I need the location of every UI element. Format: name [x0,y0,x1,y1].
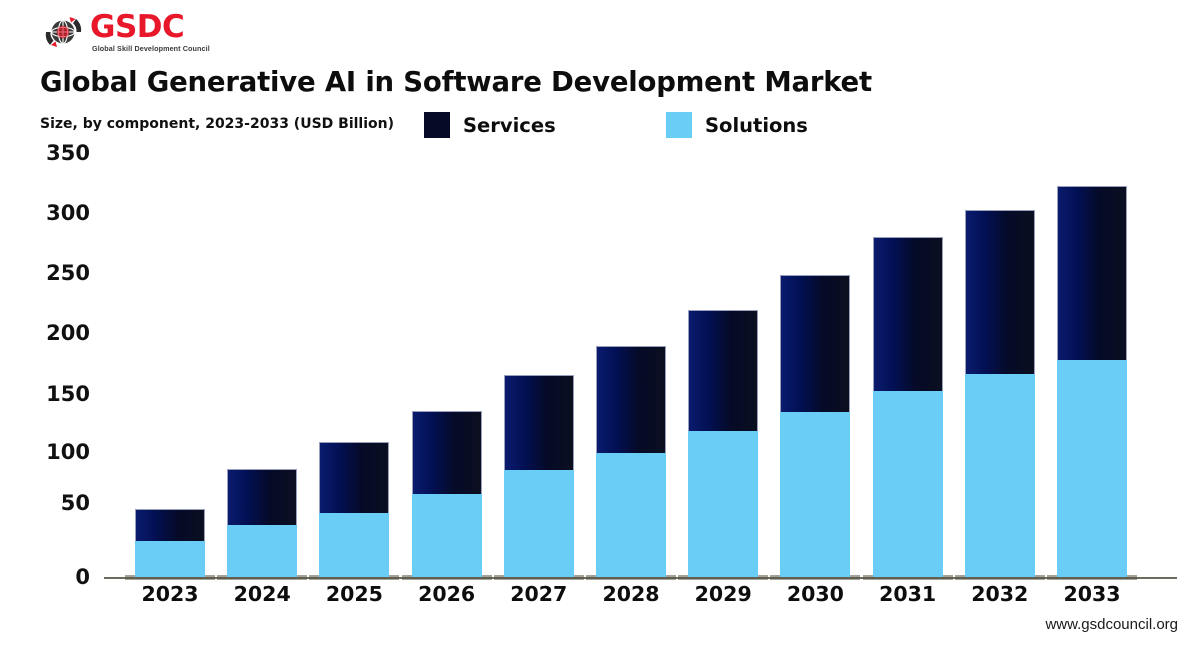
bar-segment-services-2027[interactable] [504,375,574,470]
y-axis-tick-300: 300 [28,201,90,225]
bar-segment-solutions-2031[interactable] [873,391,943,577]
y-axis-tick-0: 0 [28,565,90,589]
footer-website: www.gsdcouncil.org [1045,616,1178,633]
bar-segment-solutions-2033[interactable] [1057,360,1127,577]
x-axis-tick-2029: 2029 [676,582,770,606]
bar-column-2026[interactable] [412,411,482,577]
bar-segment-solutions-2023[interactable] [135,541,205,577]
x-axis-tick-2023: 2023 [123,582,217,606]
bar-segment-services-2025[interactable] [319,442,389,512]
bar-column-2032[interactable] [965,210,1035,577]
bar-segment-solutions-2025[interactable] [319,513,389,577]
x-axis-tick-2032: 2032 [953,582,1047,606]
y-axis-tick-50: 50 [28,491,90,515]
bar-segment-services-2030[interactable] [780,275,850,412]
bar-segment-solutions-2024[interactable] [227,525,297,577]
bar-column-2027[interactable] [504,375,574,577]
bar-segment-services-2024[interactable] [227,469,297,525]
bar-segment-solutions-2032[interactable] [965,374,1035,577]
bar-segment-services-2028[interactable] [596,346,666,453]
y-axis-tick-250: 250 [28,261,90,285]
bar-segment-services-2026[interactable] [412,411,482,495]
bar-segment-services-2023[interactable] [135,509,205,541]
bar-segment-services-2029[interactable] [688,310,758,431]
chart-page: GSDC Global Skill Development Council Gl… [0,0,1200,650]
bar-column-2025[interactable] [319,442,389,577]
chart-plot-area: 0501001502002503003502023202420252026202… [0,0,1200,650]
x-axis-tick-2027: 2027 [492,582,586,606]
bar-segment-solutions-2030[interactable] [780,412,850,577]
bar-segment-solutions-2028[interactable] [596,453,666,577]
bar-segment-services-2031[interactable] [873,237,943,391]
y-axis-tick-200: 200 [28,321,90,345]
y-axis-tick-150: 150 [28,382,90,406]
bar-column-2023[interactable] [135,509,205,577]
bar-column-2030[interactable] [780,275,850,577]
bar-segment-services-2033[interactable] [1057,186,1127,360]
bar-segment-services-2032[interactable] [965,210,1035,374]
bar-segment-solutions-2027[interactable] [504,470,574,577]
bar-column-2031[interactable] [873,237,943,577]
y-axis-tick-350: 350 [28,141,90,165]
y-axis-tick-100: 100 [28,440,90,464]
x-axis-tick-2025: 2025 [307,582,401,606]
bar-segment-solutions-2029[interactable] [688,431,758,577]
x-axis-tick-2026: 2026 [400,582,494,606]
bar-column-2029[interactable] [688,310,758,577]
x-axis-tick-2028: 2028 [584,582,678,606]
x-axis-tick-2030: 2030 [768,582,862,606]
x-axis-tick-2024: 2024 [215,582,309,606]
x-axis-tick-2031: 2031 [861,582,955,606]
bar-column-2033[interactable] [1057,186,1127,577]
bar-segment-solutions-2026[interactable] [412,494,482,577]
bar-column-2028[interactable] [596,346,666,577]
bar-column-2024[interactable] [227,469,297,577]
x-axis-tick-2033: 2033 [1045,582,1139,606]
